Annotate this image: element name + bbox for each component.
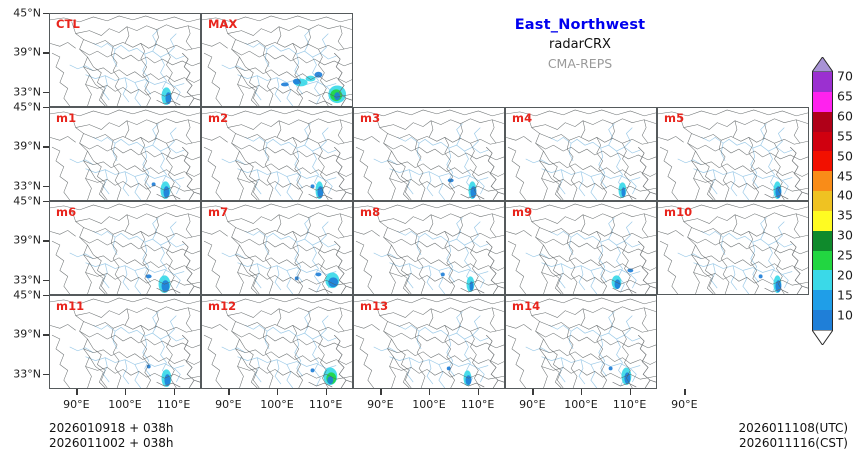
colorbar-tick-label: 65 — [837, 89, 853, 104]
colorbar-band — [812, 290, 833, 310]
latitude-tick — [43, 52, 49, 53]
longitude-label: 110°E — [309, 398, 342, 411]
map-panel-m6[interactable]: m6 — [49, 201, 201, 295]
longitude-tick — [380, 389, 381, 395]
panel-label: CTL — [56, 17, 80, 31]
longitude-label: 90°E — [367, 398, 393, 411]
map-panel-m5[interactable]: m5 — [657, 107, 809, 201]
latitude-label: 33°N — [13, 273, 41, 286]
panel-label: m8 — [360, 205, 380, 219]
latitude-label: 39°N — [13, 140, 41, 153]
colorbar-tick-label: 20 — [837, 267, 853, 282]
colorbar-band — [812, 191, 833, 211]
colorbar-tick-label: 25 — [837, 247, 853, 262]
longitude-tick — [684, 389, 685, 395]
colorbar-band — [812, 211, 833, 231]
panel-label: m4 — [512, 111, 532, 125]
panel-label: m2 — [208, 111, 228, 125]
latitude-tick — [43, 374, 49, 375]
latitude-label: 33°N — [13, 367, 41, 380]
map-panel-max[interactable]: MAX — [201, 13, 353, 107]
latitude-tick — [43, 201, 49, 202]
colorbar-band — [812, 112, 833, 132]
colorbar-bottom-arrow — [812, 330, 833, 345]
colorbar-tick-label: 40 — [837, 188, 853, 203]
footer-init-time-1: 2026010918 + 038h — [49, 421, 174, 436]
colorbar-band — [812, 231, 833, 251]
longitude-label: 100°E — [260, 398, 293, 411]
footer-valid-utc: 2026011108(UTC) — [739, 421, 849, 436]
panel-label: MAX — [208, 17, 238, 31]
longitude-tick — [630, 389, 631, 395]
longitude-tick — [581, 389, 582, 395]
longitude-label: 90°E — [215, 398, 241, 411]
colorbar-band — [812, 270, 833, 290]
panel-label: m13 — [360, 299, 388, 313]
colorbar-tick-label: 30 — [837, 228, 853, 243]
colorbar-band — [812, 92, 833, 112]
panel-label: m1 — [56, 111, 76, 125]
latitude-label: 39°N — [13, 46, 41, 59]
latitude-label: 45°N — [13, 195, 41, 208]
latitude-label: 33°N — [13, 179, 41, 192]
longitude-label: 110°E — [461, 398, 494, 411]
latitude-tick — [43, 280, 49, 281]
footer-left: 2026010918 + 038h 2026011002 + 038h — [49, 421, 174, 450]
panel-row: m1m2m3m4m5 — [49, 107, 809, 201]
colorbar-tick-label: 70 — [837, 69, 853, 84]
colorbar-band — [812, 251, 833, 271]
colorbar-band — [812, 171, 833, 191]
colorbar-band — [812, 72, 833, 92]
latitude-label: 45°N — [13, 101, 41, 114]
map-panel-m13[interactable]: m13 — [353, 295, 505, 389]
longitude-tick — [228, 389, 229, 395]
colorbar-top-arrow — [812, 57, 833, 72]
latitude-label: 33°N — [13, 85, 41, 98]
longitude-tick — [76, 389, 77, 395]
colorbar: 70656055504540353025201510 — [812, 72, 833, 330]
longitude-tick — [532, 389, 533, 395]
longitude-label: 110°E — [157, 398, 190, 411]
map-panel-m1[interactable]: m1 — [49, 107, 201, 201]
map-panel-m2[interactable]: m2 — [201, 107, 353, 201]
latitude-tick — [43, 92, 49, 93]
latitude-label: 45°N — [13, 289, 41, 302]
map-panel-ctl[interactable]: CTL — [49, 13, 201, 107]
colorbar-tick-label: 50 — [837, 148, 853, 163]
panel-row: m6m7m8m9m10 — [49, 201, 809, 295]
colorbar-tick-label: 60 — [837, 109, 853, 124]
latitude-tick — [43, 295, 49, 296]
panel-label: m9 — [512, 205, 532, 219]
longitude-tick — [277, 389, 278, 395]
panel-label: m3 — [360, 111, 380, 125]
footer-valid-cst: 2026011116(CST) — [739, 436, 849, 451]
latitude-tick — [43, 107, 49, 108]
longitude-tick — [326, 389, 327, 395]
map-panel-m8[interactable]: m8 — [353, 201, 505, 295]
longitude-tick — [429, 389, 430, 395]
latitude-label: 39°N — [13, 234, 41, 247]
latitude-label: 39°N — [13, 328, 41, 341]
colorbar-band — [812, 132, 833, 152]
map-panel-m3[interactable]: m3 — [353, 107, 505, 201]
map-panel-m12[interactable]: m12 — [201, 295, 353, 389]
longitude-label: 110°E — [613, 398, 646, 411]
longitude-label: 100°E — [564, 398, 597, 411]
panel-row: m11m12m13m14 — [49, 295, 809, 389]
latitude-tick — [43, 13, 49, 14]
panel-label: m6 — [56, 205, 76, 219]
latitude-label: 45°N — [13, 7, 41, 20]
map-panel-m10[interactable]: m10 — [657, 201, 809, 295]
figure-root: East_Northwest radarCRX CMA-REPS CTLMAXm… — [0, 0, 860, 456]
map-panel-m14[interactable]: m14 — [505, 295, 657, 389]
panel-label: m14 — [512, 299, 540, 313]
longitude-label: 100°E — [108, 398, 141, 411]
latitude-tick — [43, 334, 49, 335]
panel-label: m11 — [56, 299, 84, 313]
longitude-label: 90°E — [519, 398, 545, 411]
colorbar-band — [812, 310, 833, 330]
panel-label: m12 — [208, 299, 236, 313]
footer-right: 2026011108(UTC) 2026011116(CST) — [739, 421, 849, 450]
longitude-tick — [174, 389, 175, 395]
map-panel-m11[interactable]: m11 — [49, 295, 201, 389]
panel-row: CTLMAX — [49, 13, 809, 107]
map-panel-m7[interactable]: m7 — [201, 201, 353, 295]
panel-label: m10 — [664, 205, 692, 219]
colorbar-tick-label: 15 — [837, 287, 853, 302]
colorbar-tick-label: 55 — [837, 128, 853, 143]
longitude-label: 100°E — [412, 398, 445, 411]
map-panel-m9[interactable]: m9 — [505, 201, 657, 295]
panel-label: m7 — [208, 205, 228, 219]
latitude-tick — [43, 146, 49, 147]
footer-init-time-2: 2026011002 + 038h — [49, 436, 174, 451]
longitude-tick — [125, 389, 126, 395]
longitude-label: 90°E — [671, 398, 697, 411]
colorbar-band — [812, 151, 833, 171]
latitude-tick — [43, 240, 49, 241]
colorbar-tick-label: 35 — [837, 208, 853, 223]
panel-label: m5 — [664, 111, 684, 125]
map-panel-m4[interactable]: m4 — [505, 107, 657, 201]
latitude-tick — [43, 186, 49, 187]
longitude-label: 90°E — [63, 398, 89, 411]
colorbar-tick-label: 45 — [837, 168, 853, 183]
longitude-tick — [478, 389, 479, 395]
colorbar-tick-label: 10 — [837, 307, 853, 322]
